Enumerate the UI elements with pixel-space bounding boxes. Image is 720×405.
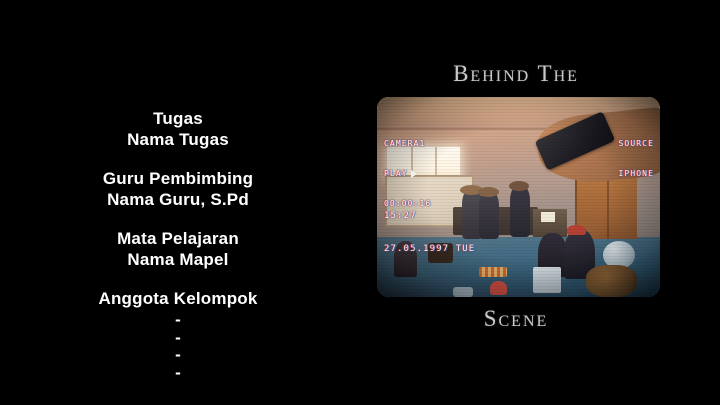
scene-person-standing bbox=[479, 191, 499, 239]
credit-heading-mapel: Mata Pelajaran bbox=[0, 228, 356, 249]
osd-date: 27.05.1997 TUE bbox=[384, 244, 475, 255]
scene-prop-small bbox=[453, 287, 473, 297]
video-frame[interactable]: CAMERA1 PLAY 00:00:16 SOURCE IPHONE 15:2… bbox=[377, 97, 660, 297]
scene-prop-box bbox=[533, 267, 561, 293]
osd-source-value: IPHONE bbox=[619, 169, 655, 179]
credit-heading-anggota: Anggota Kelompok bbox=[0, 288, 356, 309]
osd-top-right: SOURCE IPHONE bbox=[619, 119, 655, 199]
osd-transport: PLAY bbox=[384, 169, 431, 179]
osd-camera-label: CAMERA1 bbox=[384, 139, 431, 149]
member-item: - bbox=[0, 364, 356, 382]
osd-transport-label: PLAY bbox=[384, 169, 408, 179]
play-triangle-icon bbox=[411, 170, 417, 178]
scene-prop-striped bbox=[479, 267, 507, 277]
osd-bottom-left: 15:27 27.05.1997 TUE bbox=[384, 189, 475, 277]
credit-block-guru: Guru Pembimbing Nama Guru, S.Pd bbox=[0, 168, 356, 210]
member-item: - bbox=[0, 346, 356, 364]
title-bottom: Scene bbox=[371, 306, 661, 332]
scene-prop-red bbox=[490, 281, 507, 295]
scene-person-standing bbox=[510, 185, 530, 237]
member-item: - bbox=[0, 329, 356, 347]
scene-paper bbox=[541, 212, 555, 222]
member-list: - - - - bbox=[0, 311, 356, 381]
credit-block-mapel: Mata Pelajaran Nama Mapel bbox=[0, 228, 356, 270]
credit-heading-tugas: Tugas bbox=[0, 108, 356, 129]
credit-block-anggota: Anggota Kelompok - - - - bbox=[0, 288, 356, 381]
credit-value-tugas: Nama Tugas bbox=[0, 129, 356, 150]
osd-source-label: SOURCE bbox=[619, 139, 655, 149]
credit-heading-guru: Guru Pembimbing bbox=[0, 168, 356, 189]
scene-cabinet-seam bbox=[607, 173, 609, 239]
slide-canvas: Tugas Nama Tugas Guru Pembimbing Nama Gu… bbox=[0, 0, 720, 405]
member-item: - bbox=[0, 311, 356, 329]
credits-column: Tugas Nama Tugas Guru Pembimbing Nama Gu… bbox=[0, 108, 356, 399]
scene-red-headscarf bbox=[567, 225, 587, 235]
credit-block-tugas: Tugas Nama Tugas bbox=[0, 108, 356, 150]
credit-value-guru: Nama Guru, S.Pd bbox=[0, 189, 356, 210]
scene-person-head bbox=[478, 187, 499, 197]
credit-value-mapel: Nama Mapel bbox=[0, 249, 356, 270]
osd-clock: 15:27 bbox=[384, 211, 475, 222]
title-top: Behind The bbox=[371, 61, 661, 87]
scene-prop-basket bbox=[586, 265, 637, 297]
